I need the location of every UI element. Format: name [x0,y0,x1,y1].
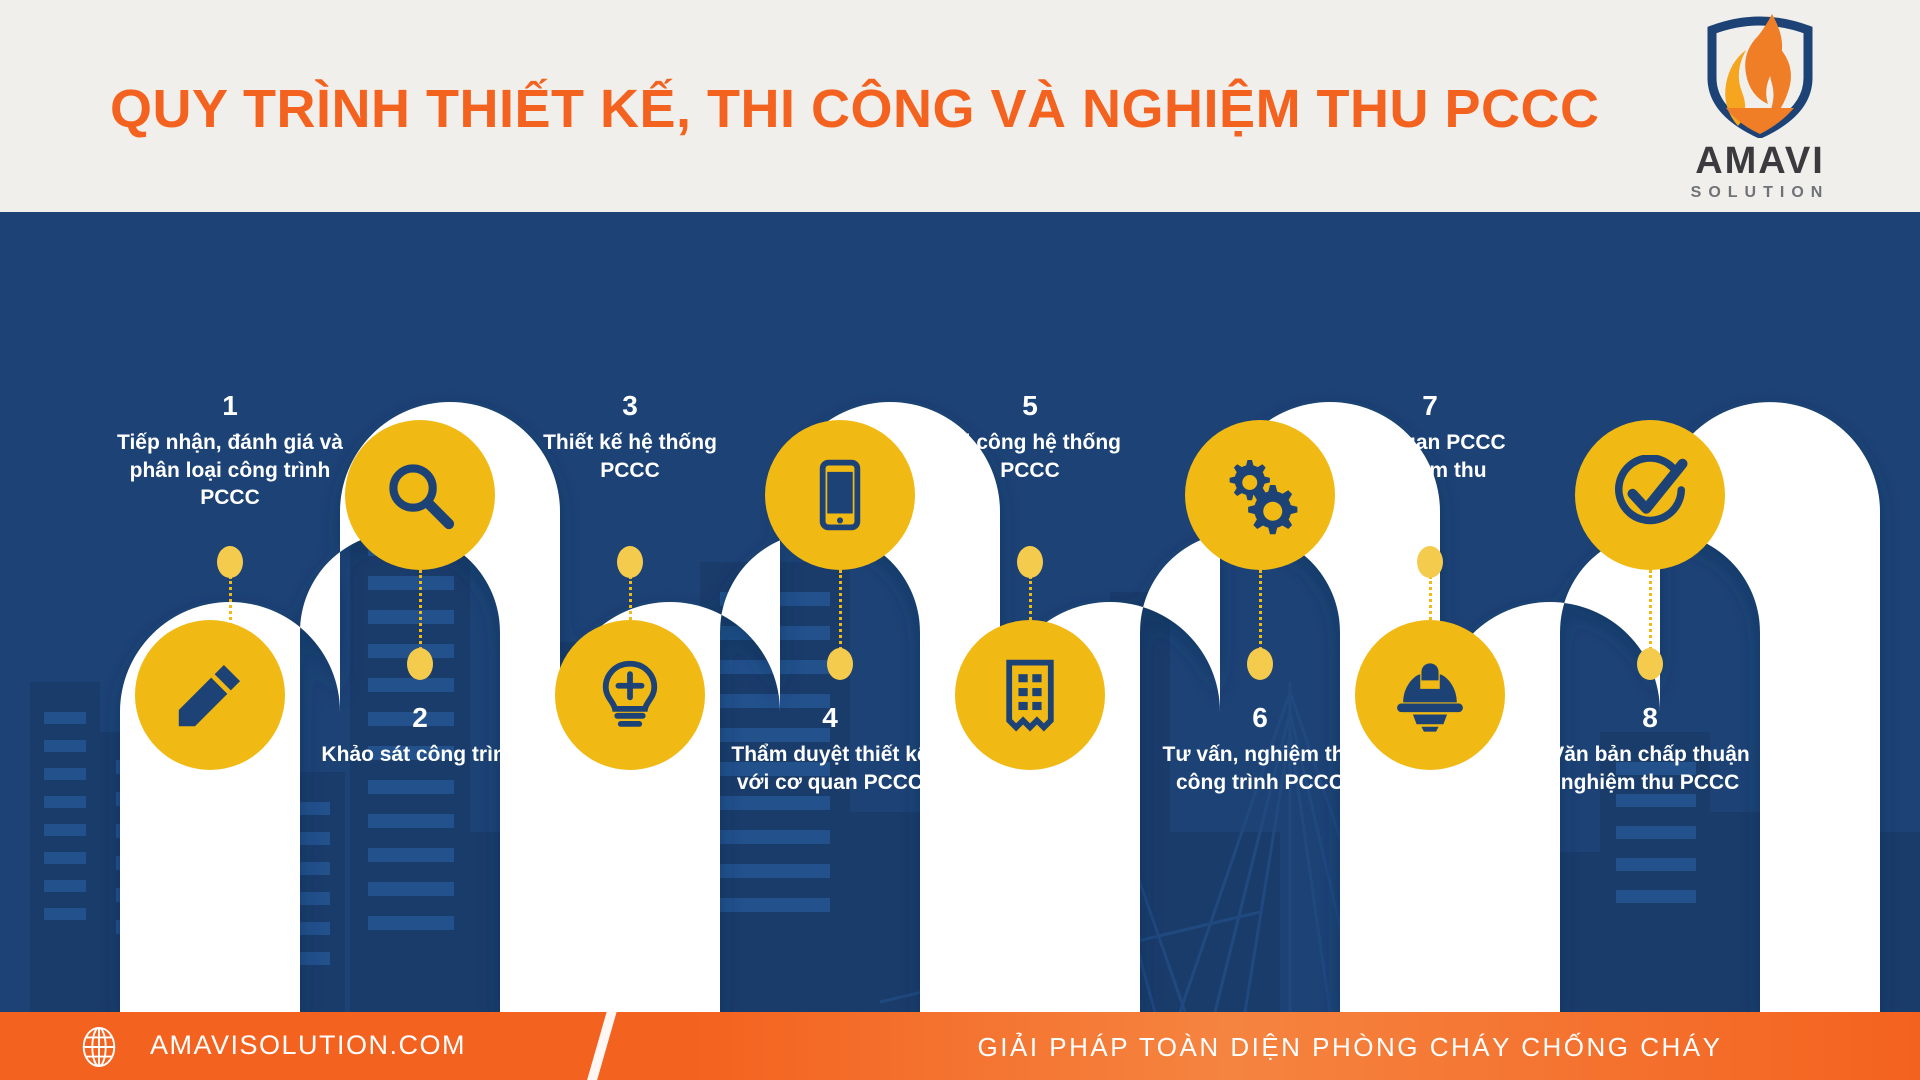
step-node-4[interactable] [765,420,915,570]
step-text-3: Thiết kế hệ thống PCCC [515,429,745,484]
step-label-3: 3 Thiết kế hệ thống PCCC [515,388,745,484]
step-number-3: 3 [515,388,745,425]
footer-bar: AMAVISOLUTION.COM GIẢI PHÁP TOÀN DIỆN PH… [0,1012,1920,1080]
step-node-3[interactable] [555,620,705,770]
step-label-1: 1 Tiếp nhận, đánh giá và phân loại công … [115,388,345,512]
step-label-6: 6 Tư vấn, nghiệm thu công trình PCCC [1145,700,1375,796]
helmet-icon [1391,656,1469,734]
step-icon-bg-3 [555,620,705,770]
step-label-4: 4 Thẩm duyệt thiết kế với cơ quan PCCC [715,700,945,796]
step-number-5: 5 [915,388,1145,425]
step-text-4: Thẩm duyệt thiết kế với cơ quan PCCC [715,741,945,796]
step-label-8: 8 Văn bản chấp thuận nghiệm thu PCCC [1535,700,1765,796]
globe-icon [78,1026,120,1068]
connector-2 [407,570,433,680]
lightbulb-plus-icon [593,658,667,732]
connector-4 [827,570,853,680]
step-text-1: Tiếp nhận, đánh giá và phân loại công tr… [115,429,345,512]
step-node-6[interactable] [1185,420,1335,570]
step-label-5: 5 Thi công hệ thống PCCC [915,388,1145,484]
step-number-8: 8 [1535,700,1765,737]
step-node-5[interactable] [955,620,1105,770]
step-icon-bg-4 [765,420,915,570]
connector-6 [1247,570,1273,680]
document-icon [993,658,1067,732]
step-number-2: 2 [305,700,535,737]
step-icon-bg-8 [1575,420,1725,570]
step-node-1[interactable] [135,620,285,770]
smartphone-icon [803,458,877,532]
magnifier-icon [383,458,457,532]
step-icon-bg-5 [955,620,1105,770]
logo-subtitle: SOLUTION [1640,184,1880,202]
footer-website-link[interactable]: AMAVISOLUTION.COM [150,1030,466,1061]
step-text-8: Văn bản chấp thuận nghiệm thu PCCC [1535,741,1765,796]
footer-tagline: GIẢI PHÁP TOÀN DIỆN PHÒNG CHÁY CHỐNG CHÁ… [900,1032,1800,1063]
header-bar: QUY TRÌNH THIẾT KẾ, THI CÔNG VÀ NGHIỆM T… [0,0,1920,212]
step-text-5: Thi công hệ thống PCCC [915,429,1145,484]
step-icon-bg-6 [1185,420,1335,570]
step-number-7: 7 [1315,388,1545,425]
amavi-logo: AMAVI SOLUTION [1640,8,1880,208]
step-node-2[interactable] [345,420,495,570]
check-circle-icon [1610,455,1690,535]
process-wave-path [0,212,1920,1012]
step-icon-bg-1 [135,620,285,770]
step-number-1: 1 [115,388,345,425]
step-text-6: Tư vấn, nghiệm thu công trình PCCC [1145,741,1375,796]
connector-8 [1637,570,1663,680]
step-number-6: 6 [1145,700,1375,737]
page-title: QUY TRÌNH THIẾT KẾ, THI CÔNG VÀ NGHIỆM T… [110,78,1590,140]
step-node-8[interactable] [1575,420,1725,570]
shield-flame-icon [1702,8,1818,138]
step-label-2: 2 Khảo sát công trình [305,700,535,769]
step-text-7: Cơ quan PCCC nghiệm thu [1315,429,1545,484]
step-text-2: Khảo sát công trình [305,741,535,769]
step-node-7[interactable] [1355,620,1505,770]
step-label-7: 7 Cơ quan PCCC nghiệm thu [1315,388,1545,484]
step-icon-bg-2 [345,420,495,570]
infographic-canvas: QUY TRÌNH THIẾT KẾ, THI CÔNG VÀ NGHIỆM T… [0,0,1920,1080]
step-icon-bg-7 [1355,620,1505,770]
step-number-4: 4 [715,700,945,737]
footer-divider-slash [584,1012,619,1080]
pencil-icon [173,658,247,732]
logo-wordmark: AMAVI [1640,140,1880,183]
gears-icon [1220,455,1300,535]
